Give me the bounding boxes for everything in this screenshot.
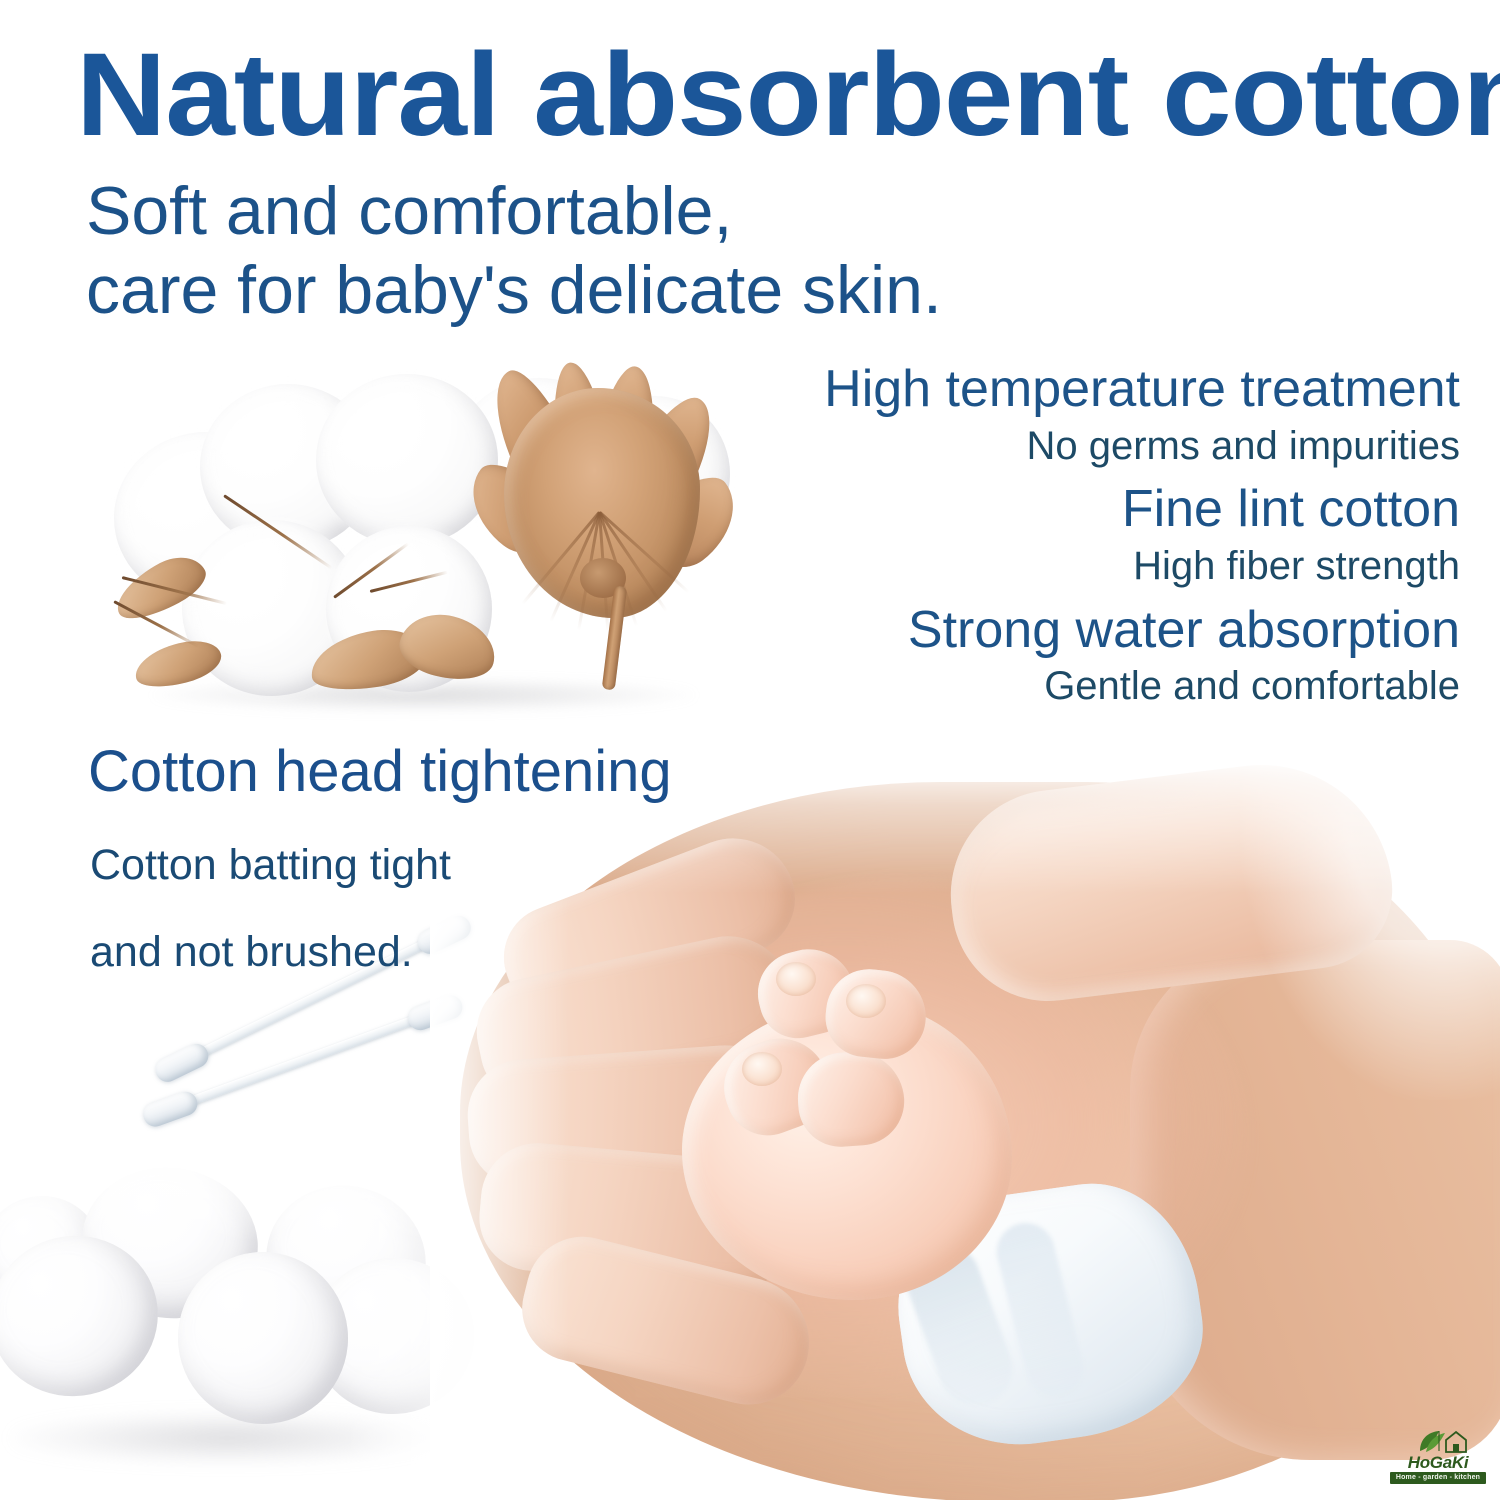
feature-subtext: High fiber strength [680,544,1460,589]
cotton-puff [316,374,498,546]
baby-hand [648,936,1068,1336]
logo-brand-name: HoGaKi [1390,1454,1486,1471]
cotton-balls-photo [0,1140,502,1500]
baby-fingernail [846,984,886,1018]
feature-heading: Fine lint cotton [680,482,1460,538]
feature-item: Fine lint cotton High fiber strength [680,482,1460,588]
photo-highlight [1240,760,1500,1100]
swab-tip [140,1088,201,1130]
baby-fingernail [776,962,816,996]
infographic-canvas: Natural absorbent cotton Soft and comfor… [0,0,1500,1500]
cotton-head-heading: Cotton head tightening [88,742,672,803]
feature-list: High temperature treatment No germs and … [680,362,1460,709]
feature-subtext: Gentle and comfortable [680,664,1460,709]
feature-item: High temperature treatment No germs and … [680,362,1460,468]
cotton-balls-shadow [12,1412,442,1464]
baby-fingernail [742,1052,782,1086]
feature-item: Strong water absorption Gentle and comfo… [680,603,1460,709]
swab-tip [152,1040,213,1086]
logo-tagline: Home - garden - kitchen [1390,1472,1486,1484]
feature-subtext: No germs and impurities [680,424,1460,469]
brand-logo: HoGaKi Home - garden - kitchen [1390,1428,1486,1490]
cotton-head-body-line-2: and not brushed. [90,931,630,974]
cotton-boll-photo [104,344,744,716]
cotton-head-body-line-1: Cotton batting tight [90,844,630,887]
subtitle-line-1: Soft and comfortable, [86,172,1186,251]
feature-heading: Strong water absorption [680,603,1460,659]
page-subtitle: Soft and comfortable, care for baby's de… [86,172,1186,330]
cotton-head-body: Cotton batting tight and not brushed. [90,844,630,1018]
subtitle-line-2: care for baby's delicate skin. [86,251,1186,330]
leaf-and-house-icon [1390,1428,1486,1454]
feature-heading: High temperature treatment [680,362,1460,418]
page-title: Natural absorbent cotton [76,36,1500,154]
